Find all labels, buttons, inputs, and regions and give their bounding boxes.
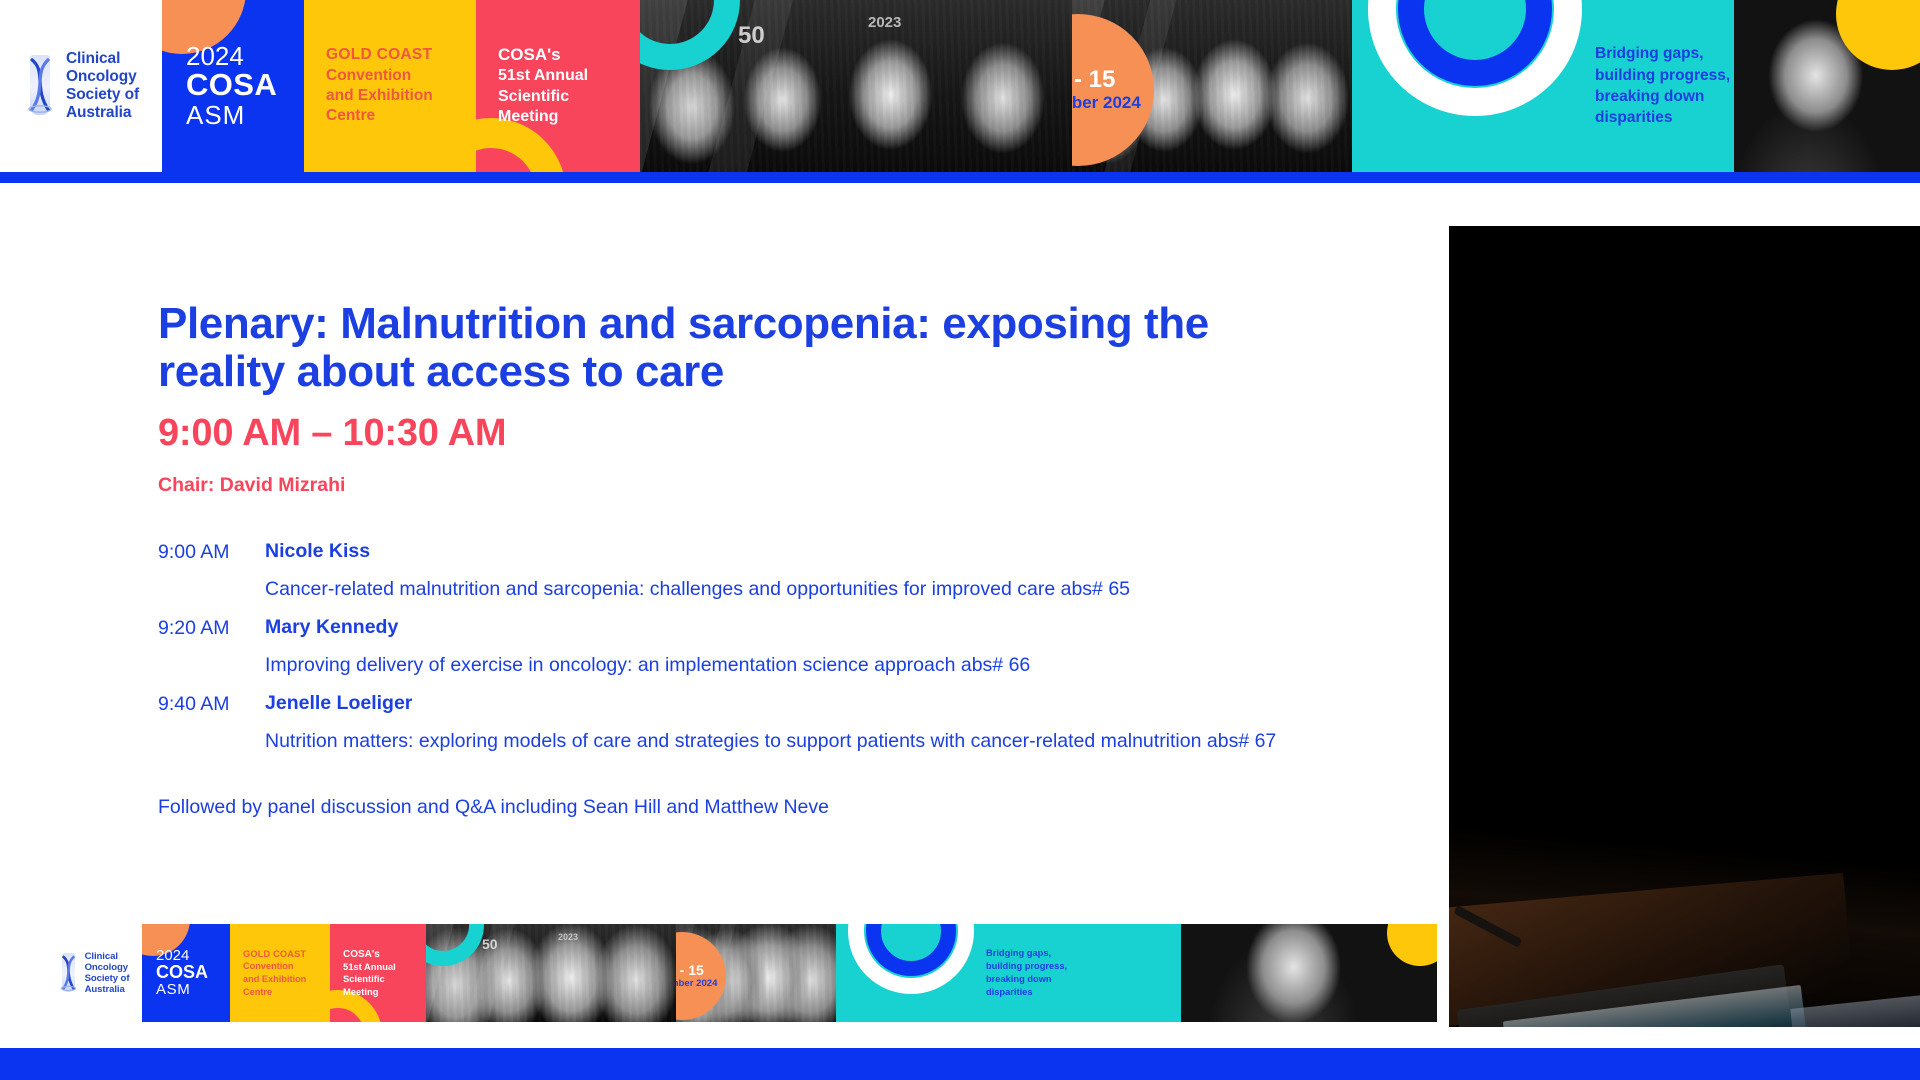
agenda-talk-title: Nutrition matters: exploring models of c… — [265, 728, 1325, 754]
header-banner: Clinical Oncology Society of Australia 2… — [0, 0, 1920, 172]
agenda-list: 9:00 AM Nicole Kiss Cancer-related malnu… — [158, 540, 1358, 819]
header-photo-panel-left: 50 2023 — [640, 0, 1072, 172]
agenda-time: 9:40 AM — [158, 692, 265, 716]
agenda-time: 9:20 AM — [158, 616, 265, 640]
footer-meeting-owner: COSA's — [343, 948, 426, 961]
cosa-logo: Clinical Oncology Society of Australia — [23, 50, 139, 122]
agenda-item: 9:20 AM Mary Kennedy — [158, 616, 1358, 640]
agenda-talk-title: Improving delivery of exercise in oncolo… — [265, 652, 1325, 678]
event-year: 2024 — [186, 43, 304, 70]
date-range: 13 - 15 — [1072, 67, 1115, 92]
header-venue-block: GOLD COAST Convention and Exhibition Cen… — [304, 0, 476, 172]
cosa-vase-icon — [23, 55, 57, 117]
session-note: Followed by panel discussion and Q&A inc… — [158, 796, 1358, 819]
footer-year-block: 2024 COSA ASM — [142, 924, 230, 1022]
cosa-logo-block: Clinical Oncology Society of Australia — [0, 0, 162, 172]
venue-lines: Convention and Exhibition Centre — [326, 66, 476, 127]
footer-banner: Clinical Oncology Society of Australia 2… — [45, 924, 1437, 1022]
footer-meeting-block: COSA's 51st Annual Scientific Meeting — [330, 924, 426, 1022]
venue-title: GOLD COAST — [326, 45, 476, 65]
conference-tagline: Bridging gaps, building progress, breaki… — [1595, 43, 1730, 129]
header-tagline-block: Bridging gaps, building progress, breaki… — [1352, 0, 1734, 172]
footer-cosa-logo: Clinical Oncology Society of Australia — [58, 951, 130, 996]
meeting-lines: 51st Annual Scientific Meeting — [498, 66, 640, 128]
session-chair: Chair: David Mizrahi — [158, 474, 1358, 497]
footer-event-type: ASM — [156, 982, 230, 998]
agenda-item: 9:00 AM Nicole Kiss — [158, 540, 1358, 564]
footer-event-year: 2024 — [156, 948, 230, 963]
footer-cosa-org-name: Clinical Oncology Society of Australia — [85, 951, 130, 996]
date-month-year: November 2024 — [1072, 93, 1141, 113]
agenda-speaker: Nicole Kiss — [265, 540, 370, 563]
event-abbr: COSA — [186, 69, 304, 102]
footer-photo-panel-right — [1181, 924, 1437, 1022]
header-photo-panel-mid: 13 - 15 November 2024 — [1072, 0, 1352, 172]
footer-venue-lines: Convention and Exhibition Centre — [243, 960, 330, 998]
event-type: ASM — [186, 102, 304, 129]
footer-date-month-year: November 2024 — [676, 978, 717, 989]
agenda-item: 9:40 AM Jenelle Loeliger — [158, 692, 1358, 716]
footer-cosa-ribbon-icon — [60, 955, 77, 991]
bottom-divider-rule — [0, 1048, 1920, 1080]
photo-text-50: 50 — [738, 22, 765, 50]
header-meeting-block: COSA's 51st Annual Scientific Meeting — [476, 0, 640, 172]
agenda-speaker: Mary Kennedy — [265, 616, 398, 639]
footer-tagline-block: Bridging gaps, building progress, breaki… — [836, 924, 1181, 1022]
footer-photo-panel-mid: 13 - 15 November 2024 — [676, 924, 836, 1022]
meeting-owner: COSA's — [498, 44, 640, 66]
footer-meeting-lines: 51st Annual Scientific Meeting — [343, 961, 426, 998]
photo-text-2023: 2023 — [868, 14, 901, 31]
header-divider-rule — [0, 172, 1920, 183]
footer-photo-panel-left: 50 2023 — [426, 924, 676, 1022]
footer-event-abbr: COSA — [156, 963, 230, 982]
agenda-speaker: Jenelle Loeliger — [265, 692, 412, 715]
footer-photo-text-2023: 2023 — [558, 932, 578, 942]
video-feed-panel[interactable] — [1449, 226, 1920, 1027]
presentation-slide: Clinical Oncology Society of Australia 2… — [0, 0, 1920, 1080]
session-title: Plenary: Malnutrition and sarcopenia: ex… — [158, 300, 1338, 395]
footer-venue-block: GOLD COAST Convention and Exhibition Cen… — [230, 924, 330, 1022]
footer-cosa-vase-icon — [58, 953, 79, 993]
footer-venue-title: GOLD COAST — [243, 948, 330, 961]
cosa-org-name: Clinical Oncology Society of Australia — [66, 50, 139, 122]
session-time: 9:00 AM – 10:30 AM — [158, 412, 1358, 455]
header-year-block: 2024 COSA ASM — [162, 0, 304, 172]
footer-conference-tagline: Bridging gaps, building progress, breaki… — [986, 947, 1067, 1000]
session-content: Plenary: Malnutrition and sarcopenia: ex… — [158, 300, 1358, 819]
agenda-talk-title: Cancer-related malnutrition and sarcopen… — [265, 576, 1325, 602]
agenda-time: 9:00 AM — [158, 540, 265, 564]
footer-photo-text-50: 50 — [482, 936, 498, 952]
footer-date-range: 13 - 15 — [676, 963, 704, 978]
footer-cosa-logo-block: Clinical Oncology Society of Australia — [45, 924, 142, 1022]
cosa-ribbon-icon — [27, 57, 53, 113]
header-photo-panel-right — [1734, 0, 1920, 172]
